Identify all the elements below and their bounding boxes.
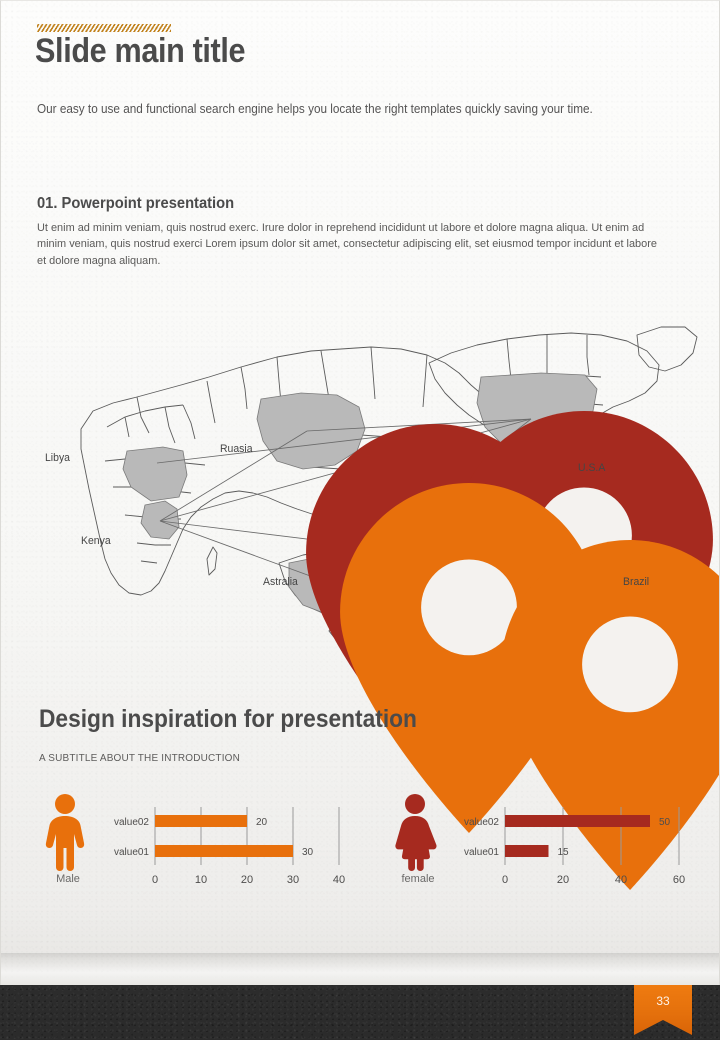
map-label-libya: Libya	[45, 452, 70, 464]
female-bar-chart-svg: value02 value01 50 15 0 20 40 60	[449, 803, 703, 895]
male-bar-chart: value02 value01 20 30 0 10 20 30 40	[99, 803, 363, 895]
page-title: Slide main title	[35, 32, 245, 71]
section-body-text: Ut enim ad minim veniam, quis nostrud ex…	[37, 220, 663, 269]
male-xtick-10: 10	[195, 874, 207, 886]
female-bar-value02	[505, 815, 650, 827]
map-pin-libya[interactable]	[105, 424, 133, 462]
male-cat-label-value02: value02	[114, 817, 149, 828]
male-data-label-value02: 20	[256, 817, 268, 828]
page-number: 33	[634, 994, 692, 1008]
map-label-kenya: Kenya	[81, 535, 111, 547]
slide-canvas: Slide main title Our easy to use and fun…	[0, 0, 720, 985]
female-caption: female	[389, 873, 447, 885]
map-label-ruasia: Ruasia	[220, 443, 253, 455]
map-pin-ruasia[interactable]	[254, 411, 282, 449]
female-data-label-value01: 15	[558, 847, 570, 858]
male-bar-value02	[155, 815, 247, 827]
female-stats-block: female value02 val	[383, 791, 703, 896]
section-heading: 01. Powerpoint presentation	[37, 195, 234, 213]
female-xtick-40: 40	[615, 874, 627, 886]
male-person-icon	[39, 793, 91, 871]
male-cat-label-value01: value01	[114, 847, 149, 858]
map-pin-brazil[interactable]	[603, 507, 631, 545]
female-xtick-0: 0	[502, 874, 508, 886]
title-hatch-decoration	[37, 24, 171, 32]
male-xtick-0: 0	[152, 874, 158, 886]
female-cat-label-value01: value01	[464, 847, 499, 858]
male-bar-chart-svg: value02 value01 20 30 0 10 20 30 40	[99, 803, 363, 895]
map-label-astralia: Astralia	[263, 576, 298, 588]
male-data-label-value01: 30	[302, 847, 314, 858]
slide-bottom-fold	[1, 953, 719, 985]
male-xtick-40: 40	[333, 874, 345, 886]
female-xtick-20: 20	[557, 874, 569, 886]
map-pin-kenya[interactable]	[139, 483, 167, 521]
male-stats-block: Male value02	[33, 791, 363, 896]
female-xtick-60: 60	[673, 874, 685, 886]
male-xtick-20: 20	[241, 874, 253, 886]
map-pin-astralia[interactable]	[300, 540, 328, 578]
male-bar-value01	[155, 845, 293, 857]
design-section-title: Design inspiration for presentation	[39, 705, 417, 734]
page-intro-text: Our easy to use and functional search en…	[37, 102, 639, 116]
world-map: Libya Ruasia Kenya Astralia U.S.A Brazil	[41, 311, 701, 661]
female-bar-value01	[505, 845, 549, 857]
design-section-subtitle: A SUBTITLE ABOUT THE INTRODUCTION	[39, 752, 240, 764]
female-cat-label-value02: value02	[464, 817, 499, 828]
female-data-label-value02: 50	[659, 817, 671, 828]
map-label-brazil: Brazil	[623, 576, 649, 588]
female-person-icon	[389, 793, 441, 871]
map-pin-usa[interactable]	[521, 404, 549, 442]
map-label-usa: U.S.A	[578, 462, 605, 474]
female-bar-chart: value02 value01 50 15 0 20 40 60	[449, 803, 703, 895]
male-caption: Male	[39, 873, 97, 885]
male-xtick-30: 30	[287, 874, 299, 886]
